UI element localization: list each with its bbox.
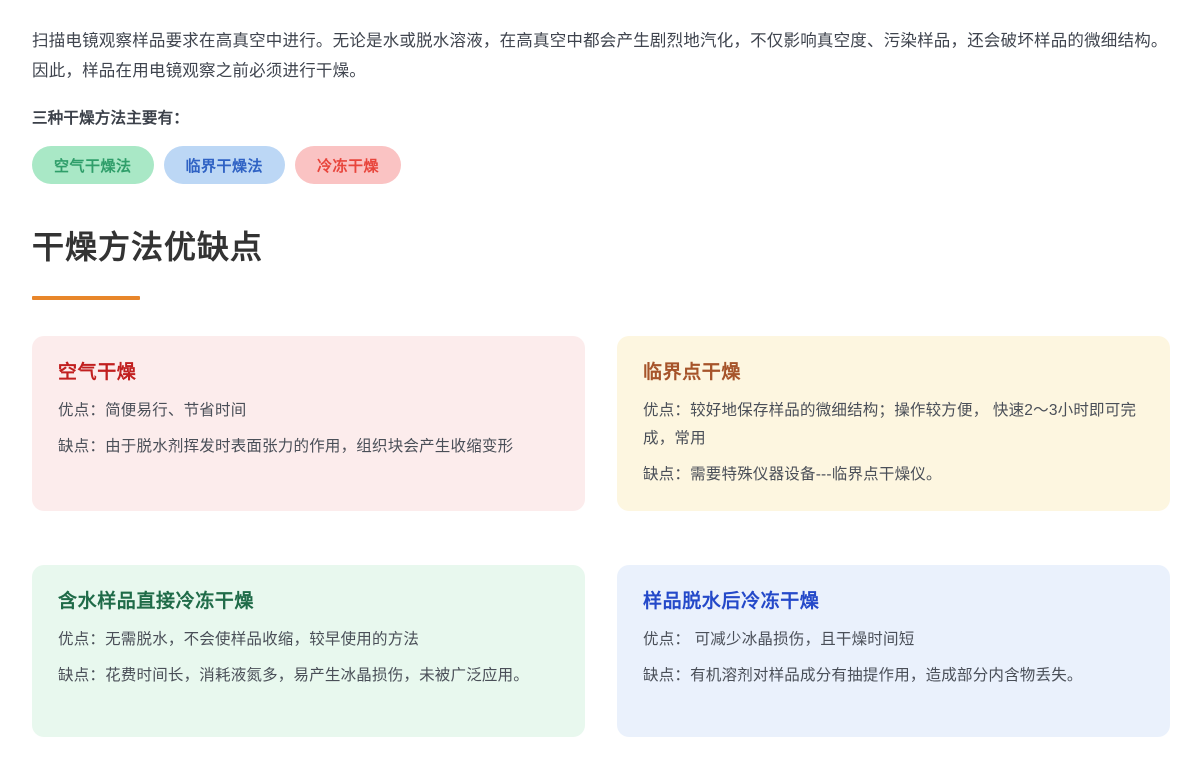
card-title: 临界点干燥 [643,362,1144,385]
card-disadvantage-line: 缺点：由于脱水剂挥发时表面张力的作用，组织块会产生收缩变形 [58,433,559,461]
card-air-drying: 空气干燥 优点：简便易行、节省时间 缺点：由于脱水剂挥发时表面张力的作用，组织块… [32,336,585,511]
card-advantage-line: 优点：无需脱水，不会使样品收缩，较早使用的方法 [58,626,559,654]
tag-freeze-drying[interactable]: 冷冻干燥 [295,146,401,184]
card-dehydrated-freeze-drying: 样品脱水后冷冻干燥 优点： 可减少冰晶损伤，且干燥时间短 缺点：有机溶剂对样品成… [617,565,1170,737]
intro-paragraph: 扫描电镜观察样品要求在高真空中进行。无论是水或脱水溶液，在高真空中都会产生剧烈地… [32,0,1168,86]
section-heading-underline [32,296,140,300]
drying-method-tag-list: 空气干燥法 临界干燥法 冷冻干燥 [32,146,1168,184]
page-root: 扫描电镜观察样品要求在高真空中进行。无论是水或脱水溶液，在高真空中都会产生剧烈地… [0,0,1200,770]
method-card-grid: 空气干燥 优点：简便易行、节省时间 缺点：由于脱水剂挥发时表面张力的作用，组织块… [32,336,1168,737]
tag-air-drying[interactable]: 空气干燥法 [32,146,154,184]
card-title: 空气干燥 [58,362,559,385]
card-title: 含水样品直接冷冻干燥 [58,591,559,614]
card-advantage-line: 优点： 可减少冰晶损伤，且干燥时间短 [643,626,1144,654]
card-critical-point-drying: 临界点干燥 优点：较好地保存样品的微细结构；操作较方便， 快速2～3小时即可完成… [617,336,1170,511]
card-advantage-line: 优点：较好地保存样品的微细结构；操作较方便， 快速2～3小时即可完成，常用 [643,397,1144,453]
card-disadvantage-line: 缺点：有机溶剂对样品成分有抽提作用，造成部分内含物丢失。 [643,662,1144,690]
section-heading: 干燥方法优缺点 [32,228,1168,266]
card-disadvantage-line: 缺点：需要特殊仪器设备---临界点干燥仪。 [643,461,1144,489]
tag-critical-drying[interactable]: 临界干燥法 [164,146,286,184]
card-title: 样品脱水后冷冻干燥 [643,591,1144,614]
card-direct-freeze-drying: 含水样品直接冷冻干燥 优点：无需脱水，不会使样品收缩，较早使用的方法 缺点：花费… [32,565,585,737]
card-advantage-line: 优点：简便易行、节省时间 [58,397,559,425]
drying-methods-label: 三种干燥方法主要有： [32,106,1168,128]
card-disadvantage-line: 缺点：花费时间长，消耗液氮多，易产生冰晶损伤，未被广泛应用。 [58,662,559,690]
